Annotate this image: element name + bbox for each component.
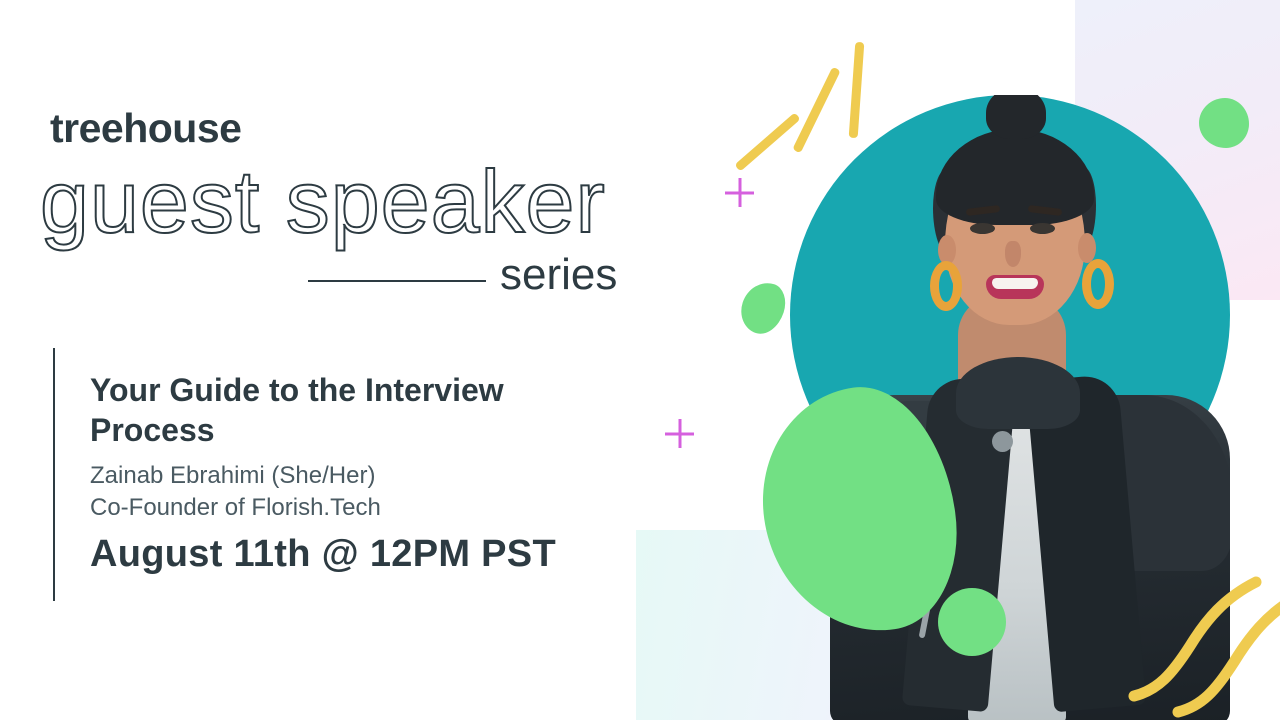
brand-wordmark: treehouse [50, 108, 241, 149]
photo-collar [956, 357, 1080, 429]
series-label: series [500, 253, 617, 297]
photo-jacket-snap [992, 431, 1013, 452]
plus-icon-upper [725, 178, 754, 207]
photo-hair-top [936, 129, 1094, 225]
details-vertical-rule [53, 348, 55, 601]
speaker-name: Zainab Ebrahimi (She/Her) [90, 460, 560, 492]
photo-earring-left [930, 261, 962, 311]
photo-eye-left [970, 223, 995, 234]
hero-artwork [636, 0, 1280, 720]
headline-outline-text: guest speaker [40, 158, 606, 246]
photo-teeth [992, 278, 1038, 289]
talk-title: Your Guide to the Interview Process [90, 370, 550, 450]
series-divider-rule [308, 280, 486, 282]
photo-ear-right [1078, 233, 1096, 263]
event-datetime: August 11th @ 12PM PST [90, 535, 556, 573]
slide-canvas: treehouse guest speaker series Your Guid… [0, 0, 1280, 720]
plus-icon-lower [665, 419, 694, 448]
photo-hair-bun [986, 95, 1046, 139]
photo-earring-right [1082, 259, 1114, 309]
squiggle-icon [1120, 570, 1280, 720]
speaker-block: Zainab Ebrahimi (She/Her) Co-Founder of … [90, 460, 560, 523]
photo-eye-right [1030, 223, 1055, 234]
green-circle-top-right [1199, 98, 1249, 148]
photo-nose [1005, 241, 1021, 267]
speaker-role: Co-Founder of Florish.Tech [90, 492, 560, 524]
green-circle-bottom [938, 588, 1006, 656]
green-blob-small [735, 277, 791, 339]
